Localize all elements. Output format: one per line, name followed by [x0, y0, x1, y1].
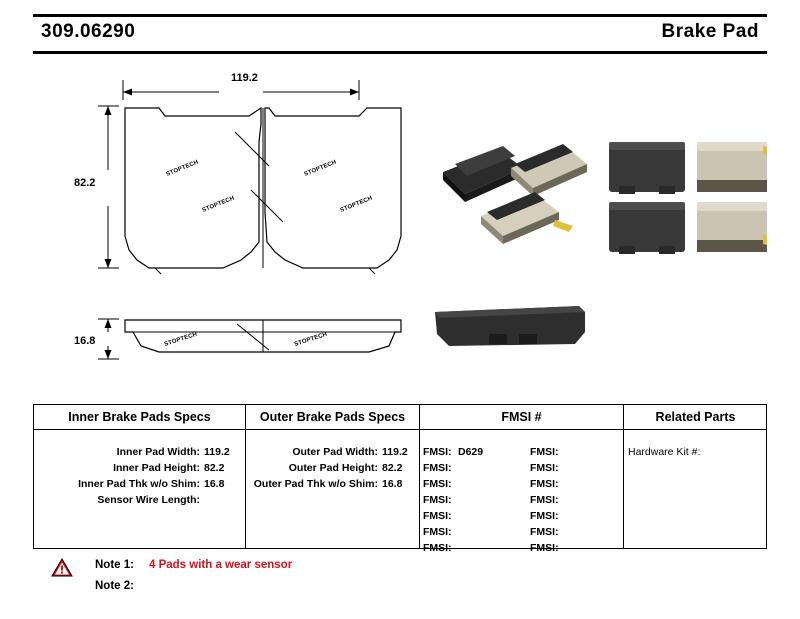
fmsi-label: FMSI: [530, 446, 559, 458]
inner-spec-value: 16.8 [204, 478, 224, 490]
related-part-label: Hardware Kit #: [628, 446, 700, 458]
fmsi-label: FMSI: [423, 446, 452, 458]
note1-label: Note 1: [95, 559, 134, 571]
watermark-logo: STOPTECH [340, 195, 374, 213]
inner-spec-label: Inner Pad Width: [34, 446, 200, 458]
fmsi-label: FMSI: [423, 526, 452, 538]
fmsi-label: FMSI: [530, 462, 559, 474]
pad-front-view-outline: STOPTECH STOPTECH STOPTECH STOPTECH [119, 102, 409, 282]
fmsi-label: FMSI: [423, 494, 452, 506]
part-number: 309.06290 [41, 21, 135, 43]
header: 309.06290 Brake Pad [33, 14, 767, 54]
brake-pad-spec-sheet: 309.06290 Brake Pad 119.2 82.2 16.8 [0, 0, 800, 619]
fmsi-label: FMSI: [530, 478, 559, 490]
column-header-fmsi: FMSI # [420, 410, 623, 424]
fmsi-label: FMSI: [530, 494, 559, 506]
dim-width-line [113, 78, 403, 100]
table-col-divider [623, 405, 624, 548]
warning-triangle-icon [51, 558, 73, 577]
outer-spec-value: 82.2 [382, 462, 402, 474]
table-col-divider [245, 405, 246, 548]
inner-spec-value: 119.2 [204, 446, 230, 458]
outer-spec-value: 119.2 [382, 446, 408, 458]
watermark-logo: STOPTECH [304, 159, 338, 177]
inner-spec-value: 82.2 [204, 462, 224, 474]
inner-spec-label: Inner Pad Height: [34, 462, 200, 474]
fmsi-label: FMSI: [423, 462, 452, 474]
specs-table: Inner Brake Pads Specs Outer Brake Pads … [33, 404, 767, 549]
dim-height-label: 82.2 [74, 177, 95, 189]
watermark-logo: STOPTECH [294, 332, 328, 348]
note2-label: Note 2: [95, 580, 134, 592]
outer-spec-label: Outer Pad Height: [246, 462, 378, 474]
header-rule-bottom [33, 51, 767, 54]
dim-height-line [95, 102, 121, 274]
header-rule-top [33, 14, 767, 17]
fmsi-label: FMSI: [530, 542, 559, 554]
column-header-outer: Outer Brake Pads Specs [246, 410, 419, 424]
note1-value: 4 Pads with a wear sensor [149, 559, 292, 571]
fmsi-label: FMSI: [530, 510, 559, 522]
notes-area: Note 1: 4 Pads with a wear sensor Note 2… [33, 556, 767, 606]
outer-spec-label: Outer Pad Thk w/o Shim: [246, 478, 378, 490]
watermark-logo: STOPTECH [202, 195, 236, 213]
drawing-area: 119.2 82.2 16.8 [33, 58, 767, 398]
pad-side-view-outline: STOPTECH STOPTECH [119, 316, 409, 364]
fmsi-label: FMSI: [423, 510, 452, 522]
watermark-logo: STOPTECH [166, 159, 200, 177]
outer-spec-label: Outer Pad Width: [246, 446, 378, 458]
fmsi-label: FMSI: [423, 478, 452, 490]
product-type: Brake Pad [662, 21, 759, 43]
inner-spec-label: Sensor Wire Length: [34, 494, 200, 506]
dim-thickness-line [95, 316, 121, 362]
fmsi-value: D629 [458, 446, 483, 458]
brake-pad-photo [403, 76, 767, 366]
table-col-divider [419, 405, 420, 548]
watermark-logo: STOPTECH [164, 332, 198, 348]
column-header-related: Related Parts [624, 410, 767, 424]
outer-spec-value: 16.8 [382, 478, 402, 490]
dim-thickness-label: 16.8 [74, 335, 95, 347]
fmsi-label: FMSI: [423, 542, 452, 554]
inner-spec-label: Inner Pad Thk w/o Shim: [34, 478, 200, 490]
fmsi-label: FMSI: [530, 526, 559, 538]
column-header-inner: Inner Brake Pads Specs [34, 410, 245, 424]
